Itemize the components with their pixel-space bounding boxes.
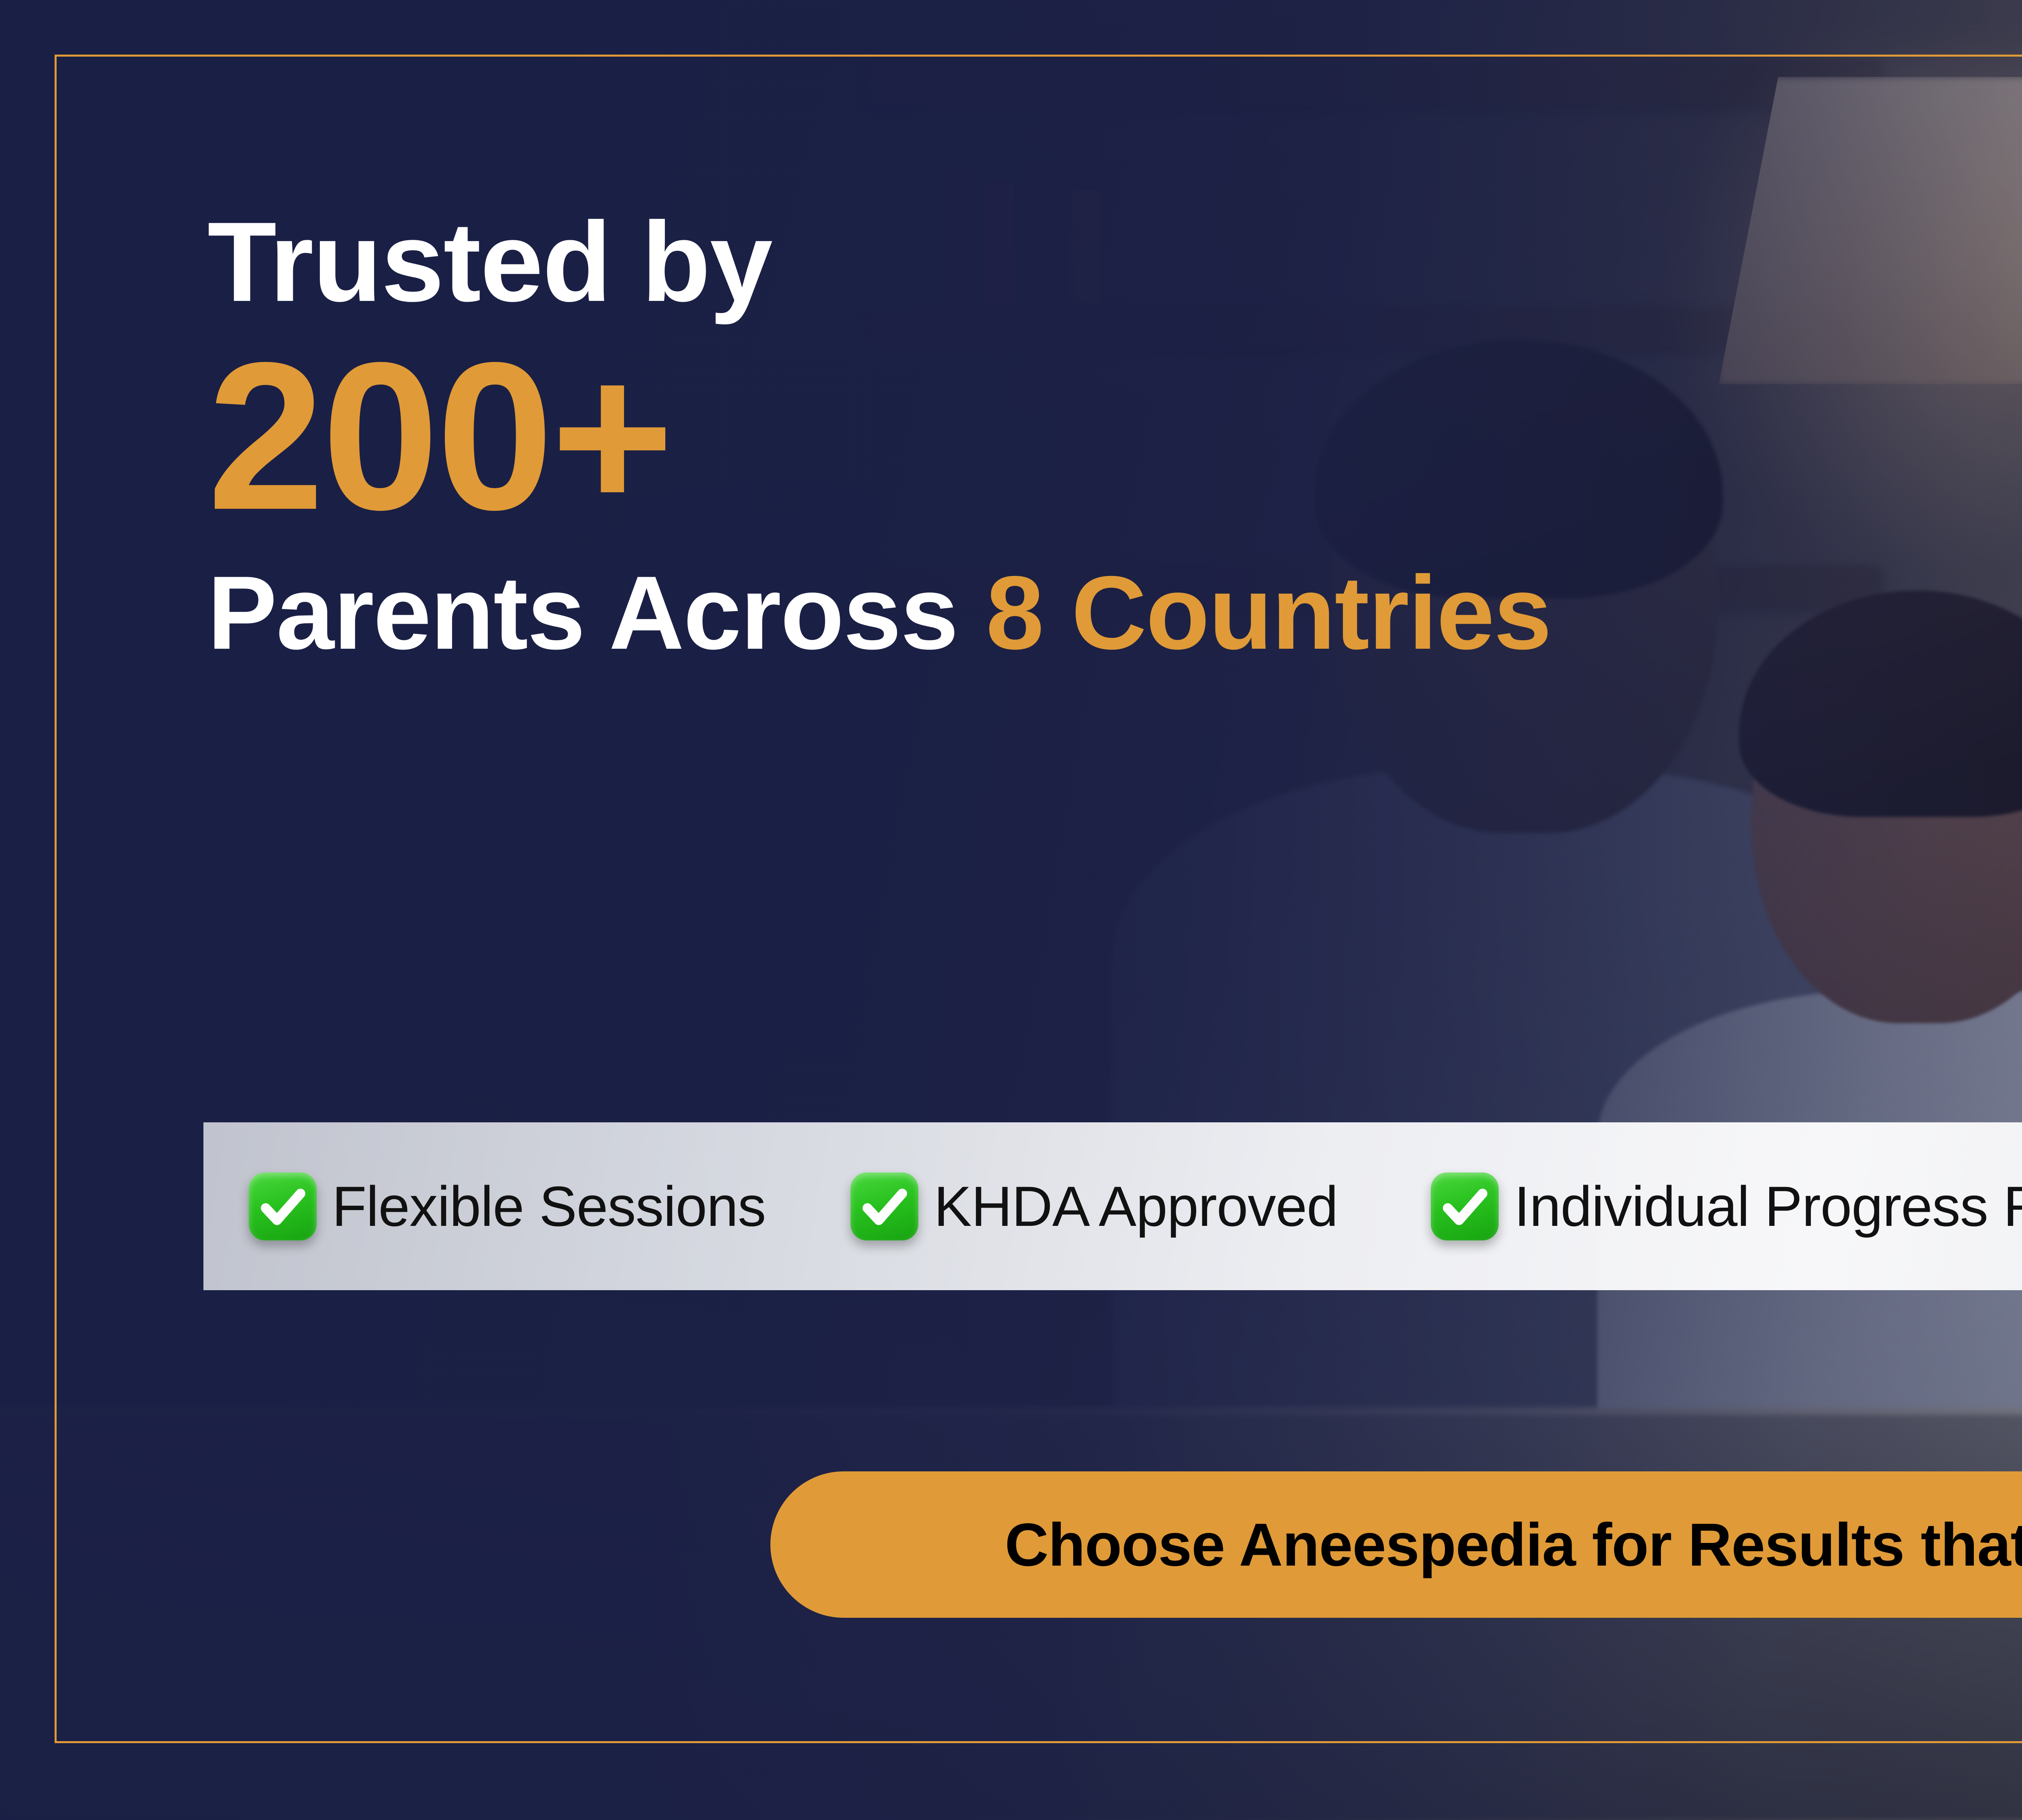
feature-label: Flexible Sessions [332,1174,766,1239]
headline-line-1: Trusted by [207,202,2022,322]
check-mark-button-icon [850,1172,918,1240]
cta-button[interactable]: Choose Aneespedia for Results that Matte… [770,1471,2022,1618]
feature-label: Individual Progress Reports [1514,1174,2022,1239]
feature-highlights-bar: Flexible Sessions KHDA Approved Individu… [203,1122,2022,1290]
cta-button-label: Choose Aneespedia for Results that Matte… [1005,1510,2022,1580]
headline-line-3-white: Parents Across [207,554,986,671]
headline-line-3: Parents Across 8 Countries [207,555,2022,670]
check-mark-button-icon [1431,1172,1499,1240]
feature-item-khda-approved: KHDA Approved [850,1172,1338,1240]
feature-item-flexible-sessions: Flexible Sessions [249,1172,766,1240]
headline-stat-200plus: 200+ [207,331,2022,542]
feature-label: KHDA Approved [934,1174,1338,1239]
feature-item-individual-progress-reports: Individual Progress Reports [1431,1172,2022,1240]
headline-block: Trusted by 200+ Parents Across 8 Countri… [207,202,2022,670]
headline-line-3-orange: 8 Countries [986,554,1551,671]
check-mark-button-icon [249,1172,317,1240]
